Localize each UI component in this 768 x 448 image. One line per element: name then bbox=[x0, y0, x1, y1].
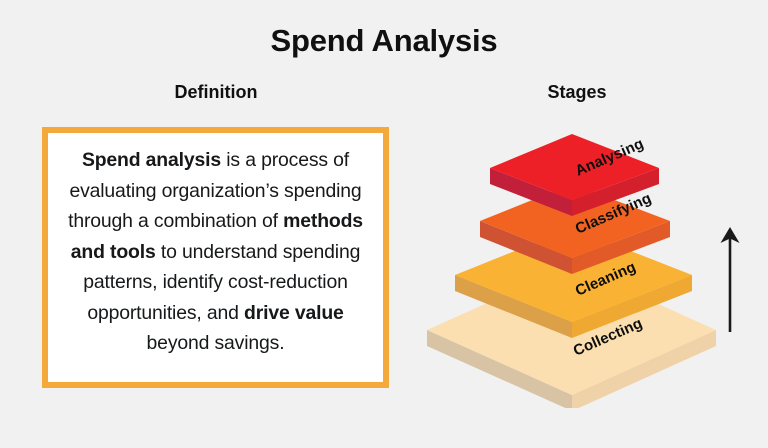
up-arrow-icon bbox=[714, 224, 746, 336]
infographic-canvas: Spend Analysis Definition Stages Spend a… bbox=[0, 0, 768, 448]
page-title: Spend Analysis bbox=[0, 22, 768, 59]
stages-heading: Stages bbox=[430, 82, 724, 103]
definition-text: Spend analysis is a process of evaluatin… bbox=[62, 145, 369, 359]
stages-pyramid-diagram: Collecting Cleaning Classifying bbox=[410, 118, 740, 408]
definition-heading: Definition bbox=[42, 82, 390, 103]
definition-card: Spend analysis is a process of evaluatin… bbox=[42, 127, 389, 388]
